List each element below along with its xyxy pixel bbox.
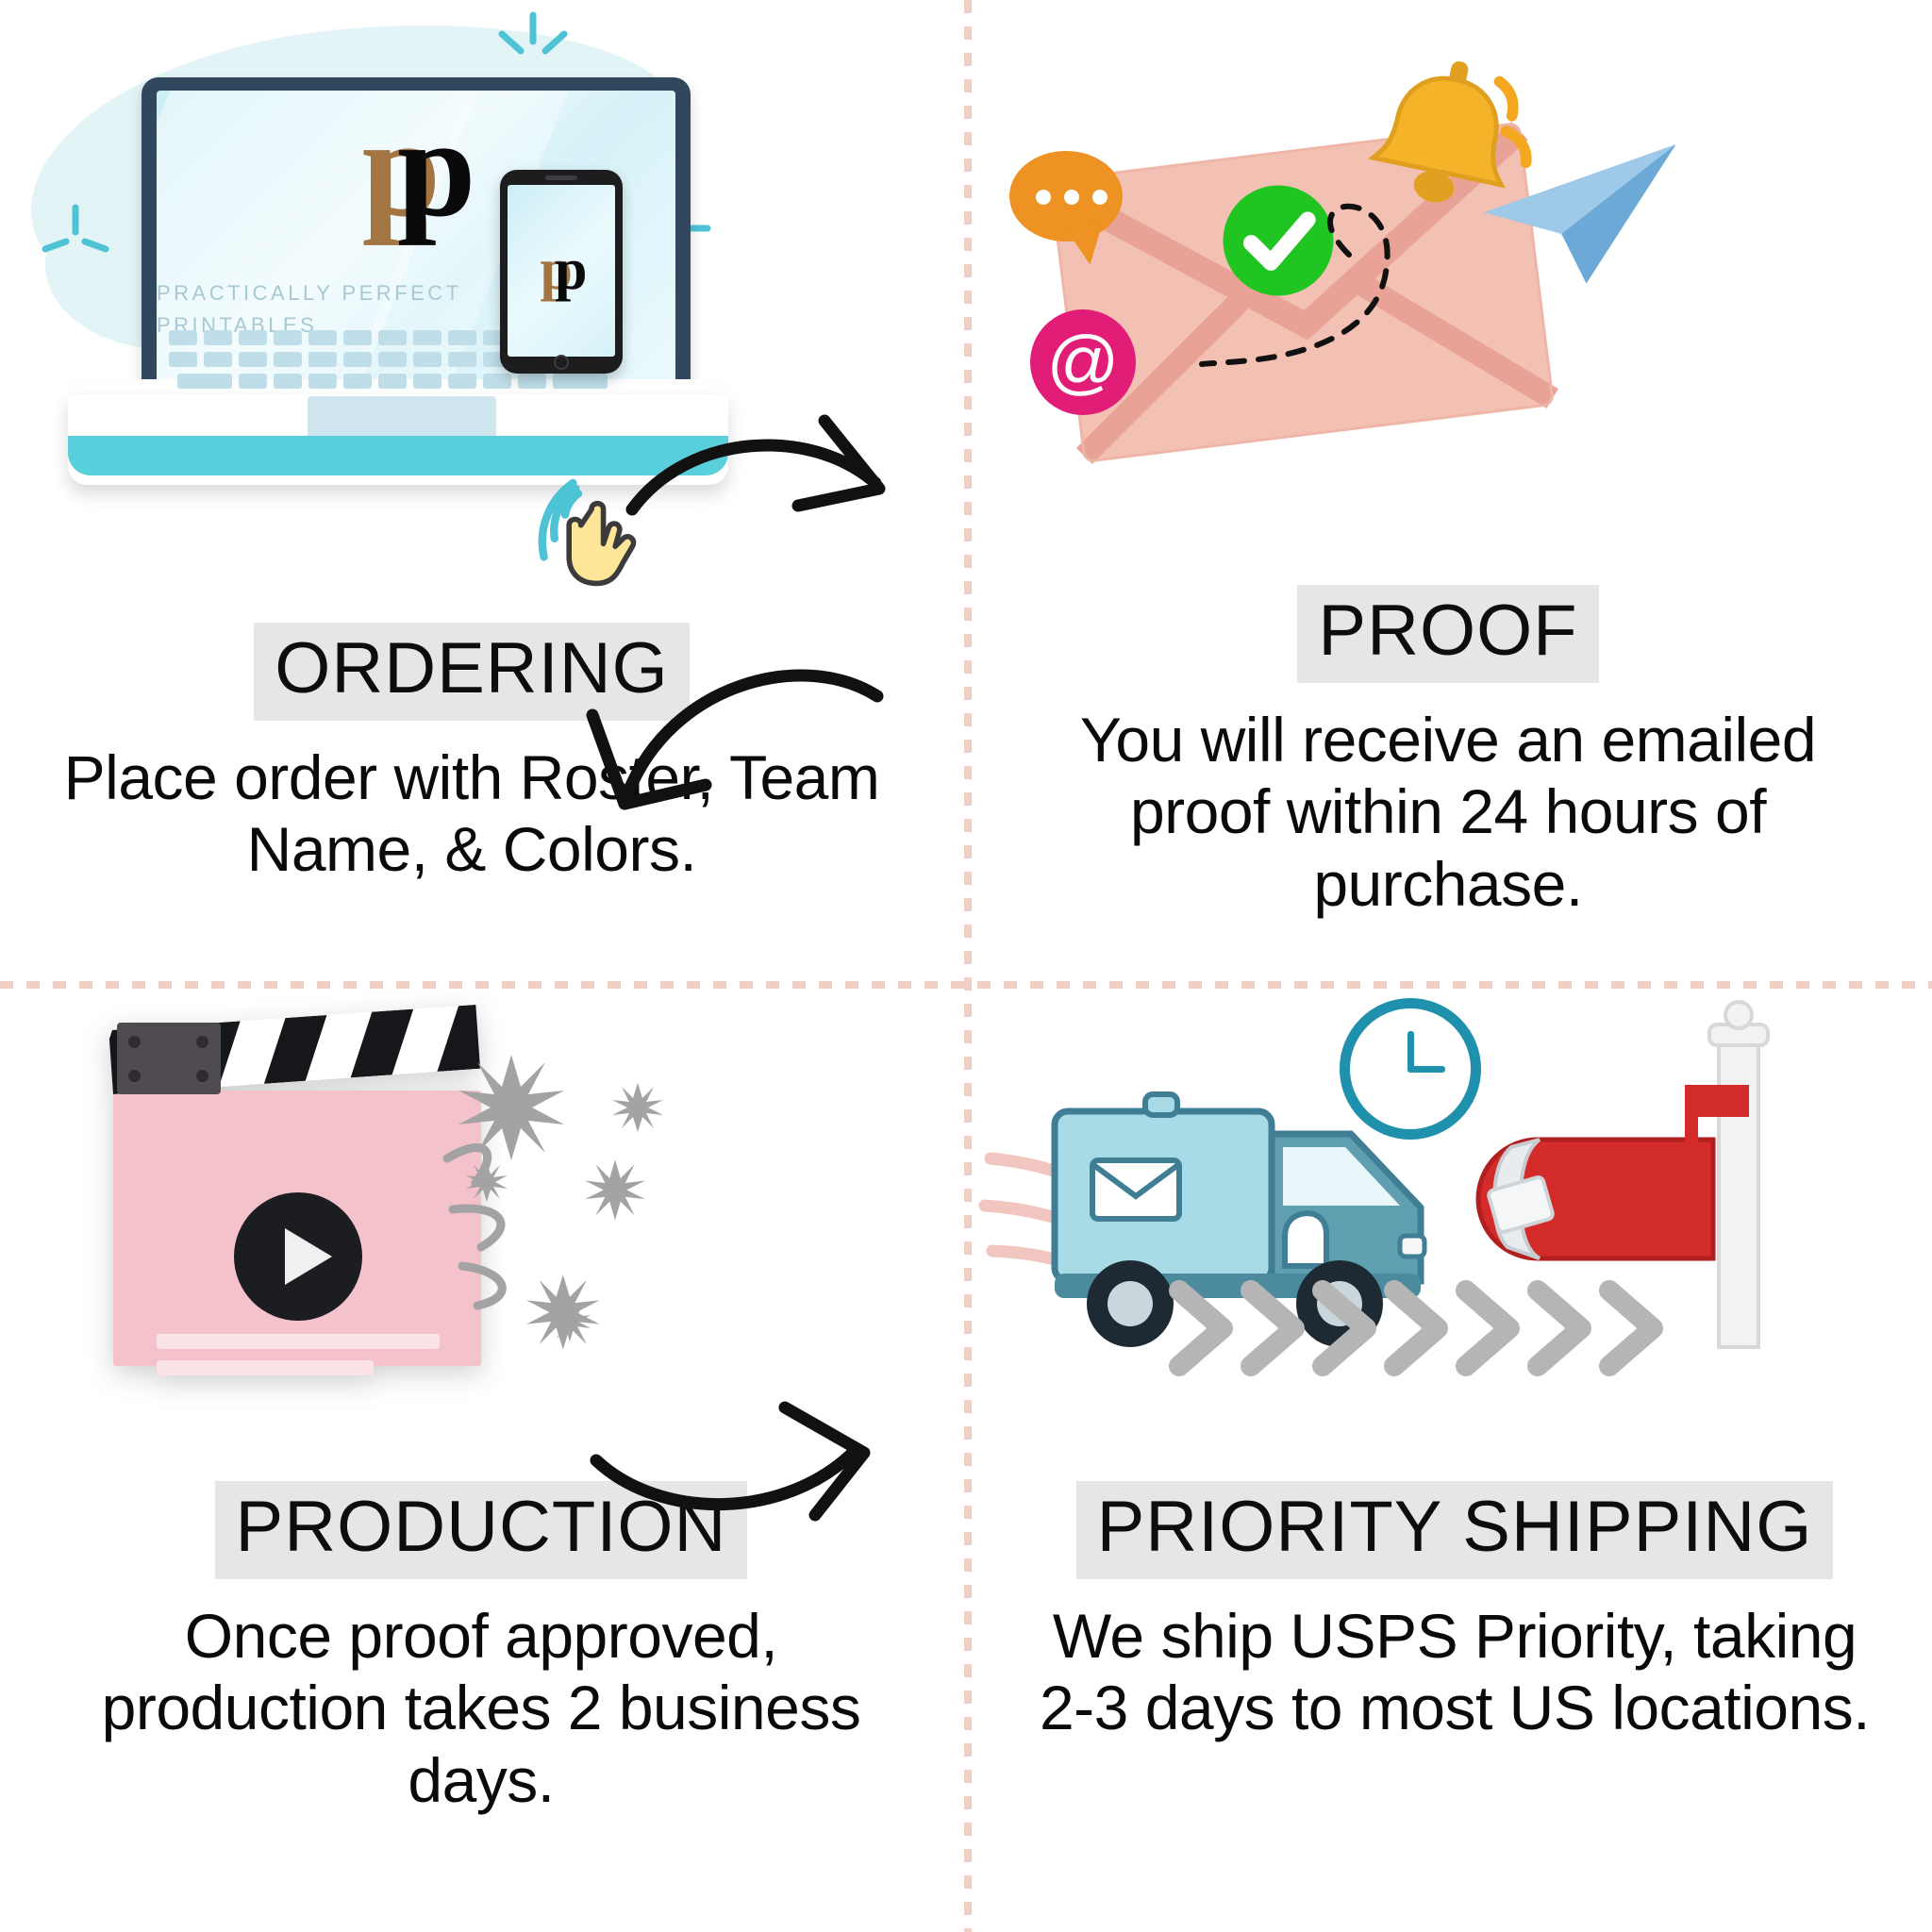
- play-button-icon: [234, 1192, 362, 1321]
- clapper-stripe: [264, 1015, 327, 1084]
- paper-plane-icon: [1472, 132, 1689, 302]
- sparkles-icon: [443, 1045, 726, 1357]
- production-body: Once proof approved, production takes 2 …: [9, 1600, 953, 1817]
- phone-home-button: [554, 355, 569, 370]
- infographic-canvas: pp PRACTICALLY PERFECT PRINTABLES: [0, 0, 1932, 1932]
- logo-monogram-right: p: [397, 91, 432, 246]
- phone-screen: pp: [508, 185, 615, 357]
- at-badge-icon: @: [1030, 309, 1136, 415]
- clapperboard-bar: [157, 1334, 440, 1349]
- proof-body-line-2: proof within 24 hours of: [995, 775, 1901, 848]
- smartphone-icon: pp: [500, 170, 623, 374]
- divider-vertical: [964, 0, 972, 1932]
- flow-arrow-proof-to-production: [585, 660, 896, 858]
- clapper-stripe: [351, 1009, 414, 1078]
- chat-dots: [1036, 190, 1108, 205]
- step-panel-priority-shipping: [972, 989, 1932, 1932]
- clapperboard-hinge: [117, 1023, 221, 1094]
- flow-arrow-production-to-shipping: [585, 1387, 915, 1538]
- play-triangle: [285, 1228, 332, 1285]
- shipping-body-line-1: We ship USPS Priority, taking: [983, 1600, 1926, 1673]
- shipping-body-line-2: 2-3 days to most US locations.: [983, 1672, 1926, 1744]
- sparkle-icon: [38, 198, 113, 272]
- clapperboard-bar: [157, 1360, 374, 1375]
- step-label-priority-shipping: PRIORITY SHIPPING: [1076, 1481, 1834, 1579]
- shipping-body: We ship USPS Priority, taking 2-3 days t…: [983, 1600, 1926, 1744]
- laptop-trackpad: [308, 396, 496, 441]
- mailbox-icon: [1500, 998, 1811, 1357]
- proof-body-line-1: You will receive an emailed: [995, 704, 1901, 776]
- flow-arrow-ordering-to-proof: [623, 406, 924, 547]
- shipping-text-block: PRIORITY SHIPPING We ship USPS Priority,…: [983, 1481, 1926, 1744]
- divider-horizontal: [0, 981, 1932, 989]
- phone-speaker: [545, 175, 577, 180]
- clapperboard-icon: [113, 1017, 481, 1366]
- production-body-line-2: production takes 2 business: [9, 1672, 953, 1744]
- phone-logo-left: p: [541, 238, 555, 302]
- proof-body-line-3: purchase.: [995, 848, 1901, 921]
- logo-monogram-left: p: [362, 91, 397, 246]
- phone-logo-right: p: [555, 238, 569, 302]
- proof-body: You will receive an emailed proof within…: [995, 704, 1901, 921]
- production-body-line-1: Once proof approved,: [9, 1600, 953, 1673]
- sparkle-icon: [491, 9, 575, 85]
- step-label-proof: PROOF: [1297, 585, 1598, 683]
- proof-text-block: PROOF You will receive an emailed proof …: [995, 585, 1901, 920]
- production-body-line-3: days.: [9, 1744, 953, 1817]
